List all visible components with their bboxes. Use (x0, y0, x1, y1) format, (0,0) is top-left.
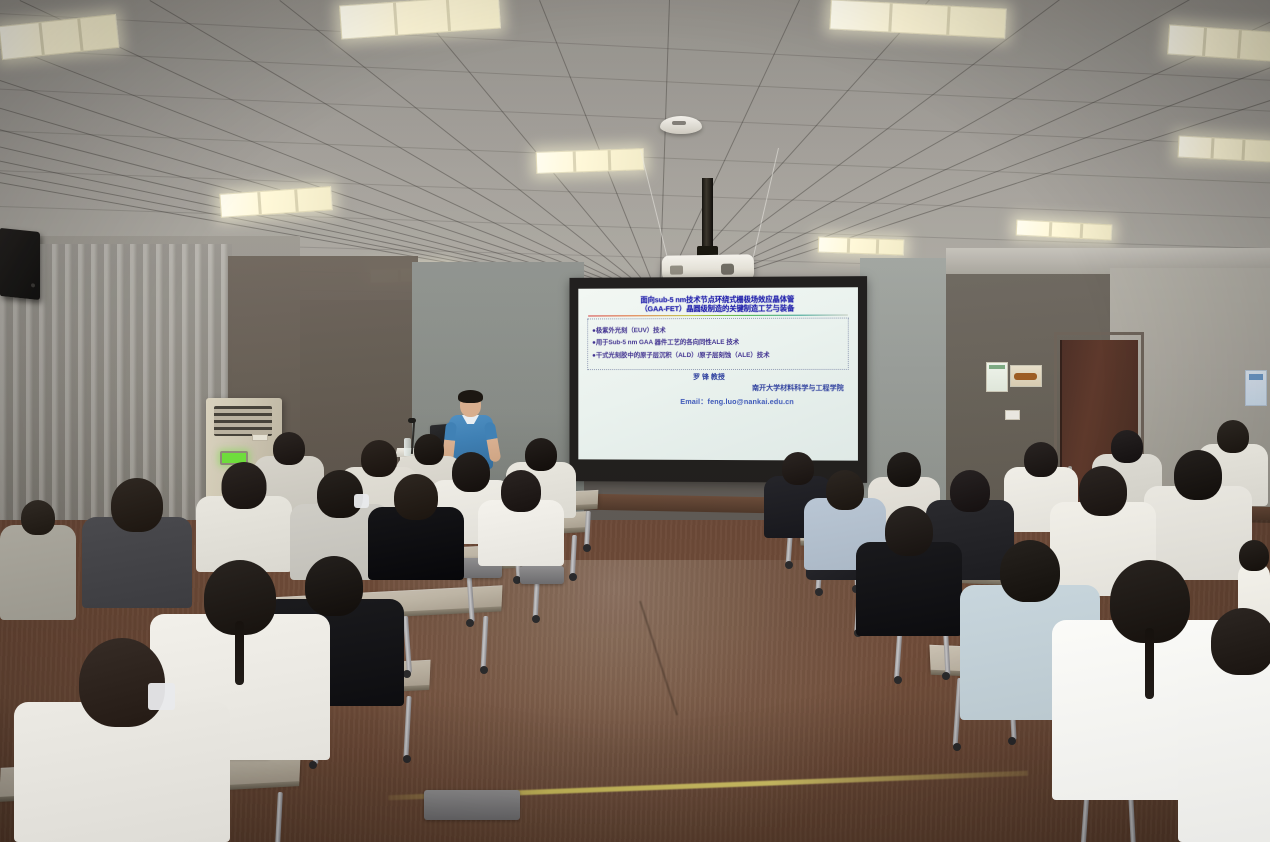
person-head (1174, 450, 1222, 500)
person-torso (1178, 656, 1270, 842)
audience-person (478, 470, 564, 566)
slide-presenter-name: 罗 锋 教授 (586, 373, 850, 382)
presentation-slide: 面向sub-5 nm技术节点环绕式栅极场效应晶体管 （GAA-FET）晶圆级制造… (578, 287, 858, 460)
desk-caster (785, 561, 793, 569)
audience-person (0, 500, 76, 620)
slide-bullet-item: ●极紫外光刻（EUV）技术 (592, 326, 843, 335)
wall-notice-blue (1245, 370, 1267, 406)
wall-notice-green (986, 362, 1008, 392)
slide-bullet-item: ●用于Sub-5 nm GAA 器件工艺的各向同性ALE 技术 (592, 339, 843, 348)
person-torso (0, 525, 76, 620)
desk-caster (942, 672, 950, 680)
person-head (273, 432, 305, 465)
chair-back (520, 566, 564, 584)
person-head (394, 474, 438, 520)
face-mask (148, 683, 176, 710)
person-head (21, 500, 55, 535)
person-head (1000, 540, 1060, 602)
slide-title-divider (588, 314, 848, 316)
person-head (885, 506, 933, 556)
lecture-hall-photo: 面向sub-5 nm技术节点环绕式栅极场效应晶体管 （GAA-FET）晶圆级制造… (0, 0, 1270, 842)
projector-vent-icon (670, 265, 683, 274)
microphone-icon (408, 418, 416, 423)
desk-caster (480, 666, 488, 674)
audience-person (14, 638, 230, 842)
slide-bullet-box: ●极紫外光刻（EUV）技术 ●用于Sub-5 nm GAA 器件工艺的各向同性A… (587, 318, 849, 371)
person-head (525, 438, 557, 471)
chair-back (424, 790, 520, 820)
ceiling-light-panel (536, 148, 645, 174)
slide-email: Email：feng.luo@nankai.edu.cn (586, 397, 850, 406)
face-mask (354, 494, 369, 508)
audience-person (1178, 608, 1270, 842)
person-head (887, 452, 921, 487)
person-head (826, 470, 864, 510)
loudspeaker-icon (0, 228, 40, 300)
person-ponytail (1145, 628, 1154, 699)
desk-caster (466, 619, 474, 627)
person-head (1217, 420, 1249, 453)
slide-bullet-item: ●干式光刻胶中的原子层沉积（ALD）/原子层刻蚀（ALE）技术 (592, 352, 843, 360)
presenter-hair (458, 390, 483, 403)
projector-lens-icon (721, 264, 734, 275)
slide-title: 面向sub-5 nm技术节点环绕式栅极场效应晶体管 （GAA-FET）晶圆级制造… (586, 292, 850, 314)
person-head (1111, 430, 1143, 463)
wall-notice-orange (1010, 365, 1042, 387)
person-head (501, 470, 541, 512)
person-torso (856, 542, 962, 636)
wall-switch-plate (1005, 410, 1020, 420)
person-head (111, 478, 163, 532)
person-ponytail (235, 621, 244, 685)
person-head (1079, 466, 1127, 516)
desk-caster (953, 743, 961, 751)
slide-organization: 南开大学材料科学与工程学院 (586, 384, 850, 393)
audience-person (856, 506, 962, 636)
projector-mount-pole (702, 178, 713, 258)
person-head (222, 462, 267, 509)
smoke-detector-icon (660, 116, 702, 134)
ceiling-light-panel (818, 237, 905, 256)
person-head (1211, 608, 1270, 675)
slide-title-line2: （GAA-FET）晶圆级制造的关键制造工艺与装备 (586, 304, 850, 314)
desk-caster (569, 573, 577, 581)
